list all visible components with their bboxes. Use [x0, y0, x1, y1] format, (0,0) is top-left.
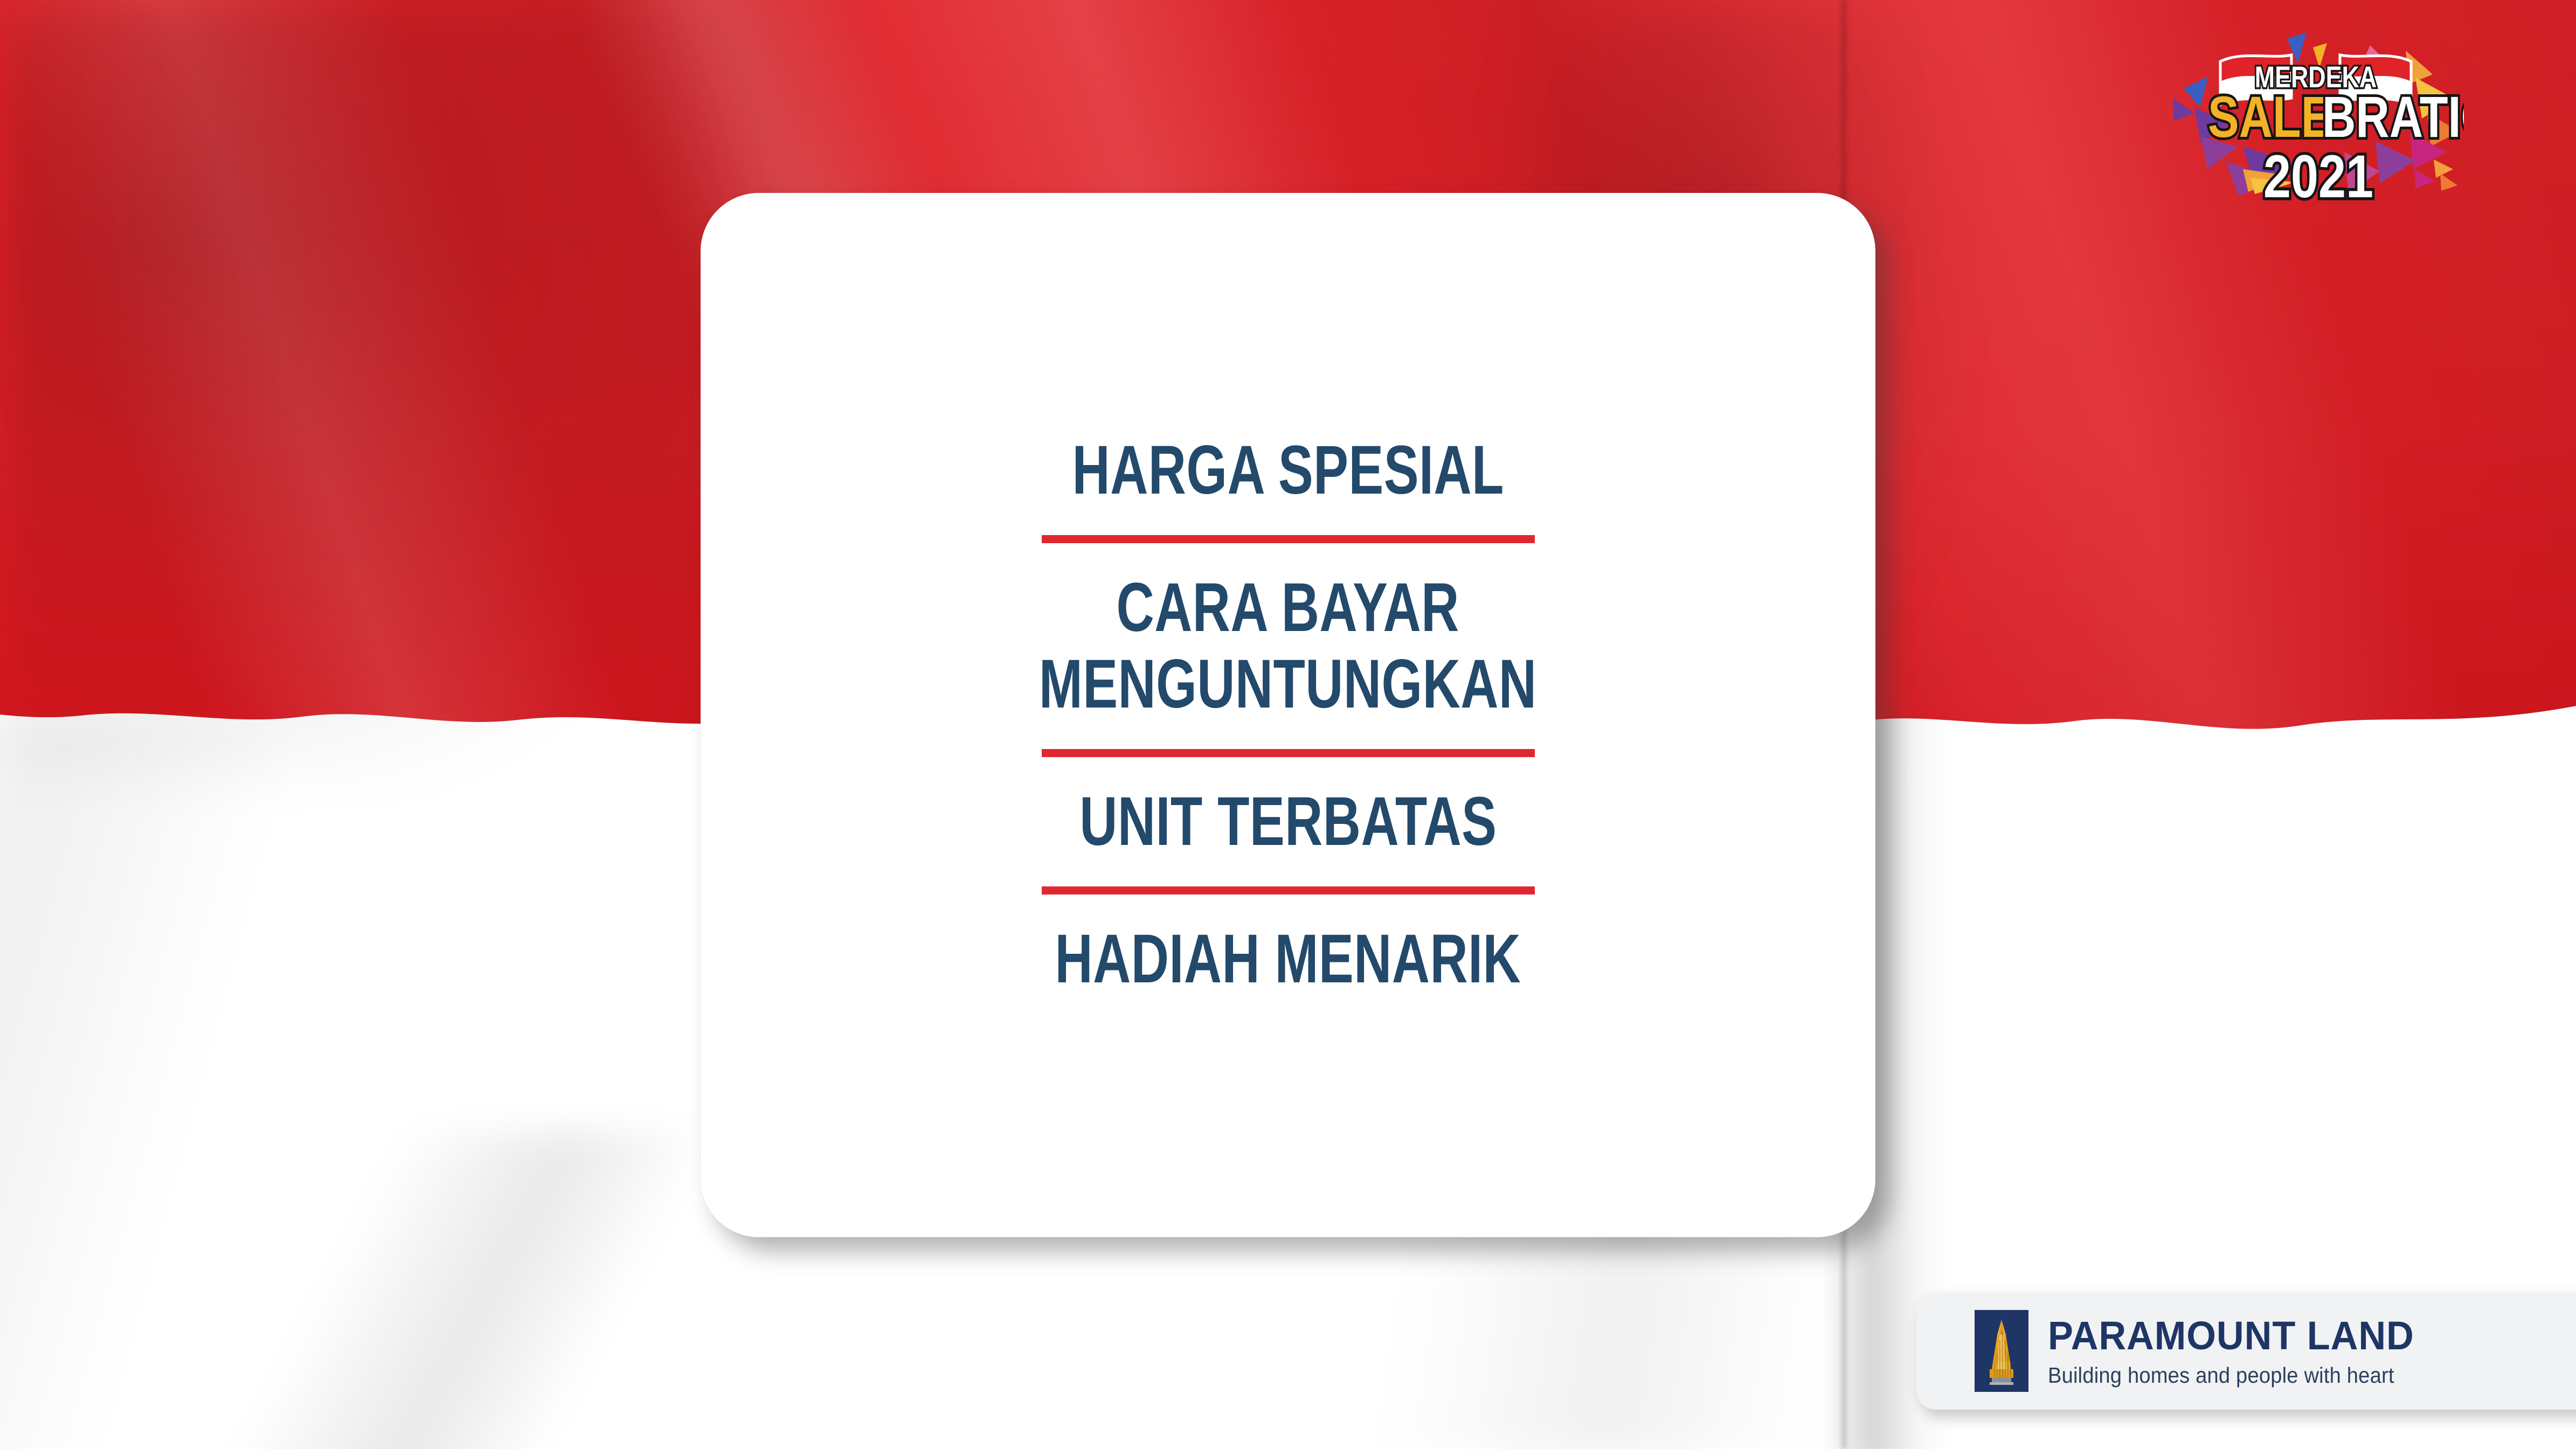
brand-name: PARAMOUNT LAND [2048, 1316, 2414, 1356]
merdeka-salebration-2021-logo: MERDEKA SALE BRATION 2021 [2162, 8, 2464, 223]
benefit-divider [1042, 886, 1535, 895]
benefit-text: UNIT TERBATAS [1079, 787, 1497, 856]
benefit-divider [1042, 749, 1535, 757]
benefit-item-cara-bayar: CARA BAYAR MENGUNTUNGKAN [960, 573, 1615, 719]
benefit-text: HARGA SPESIAL [1072, 436, 1504, 505]
badge-line-2021: 2021 [2263, 142, 2373, 210]
benefit-divider [1042, 535, 1535, 543]
benefit-item-unit-terbatas: UNIT TERBATAS [1014, 787, 1563, 856]
benefit-item-hadiah-menarik: HADIAH MENARIK [981, 925, 1595, 994]
benefit-text: MENGUNTUNGKAN [1039, 650, 1537, 719]
slide-canvas: HARGA SPESIAL CARA BAYAR MENGUNTUNGKAN U… [0, 0, 2576, 1449]
benefits-card: HARGA SPESIAL CARA BAYAR MENGUNTUNGKAN U… [701, 193, 1875, 1237]
brand-tagline: Building homes and people with heart [2048, 1364, 2406, 1386]
white-fold-shading [162, 1132, 754, 1449]
benefit-item-harga-spesial: HARGA SPESIAL [1004, 436, 1572, 505]
benefit-text: HADIAH MENARIK [1055, 925, 1521, 994]
paramount-land-logo-plate: PARAMOUNT LAND Building homes and people… [1916, 1292, 2576, 1410]
badge-line-sale: SALE [2208, 84, 2332, 149]
art-deco-tower-icon [1975, 1310, 2028, 1392]
badge-line-bration: BRATION [2322, 84, 2464, 149]
benefit-text: CARA BAYAR [1117, 573, 1459, 642]
